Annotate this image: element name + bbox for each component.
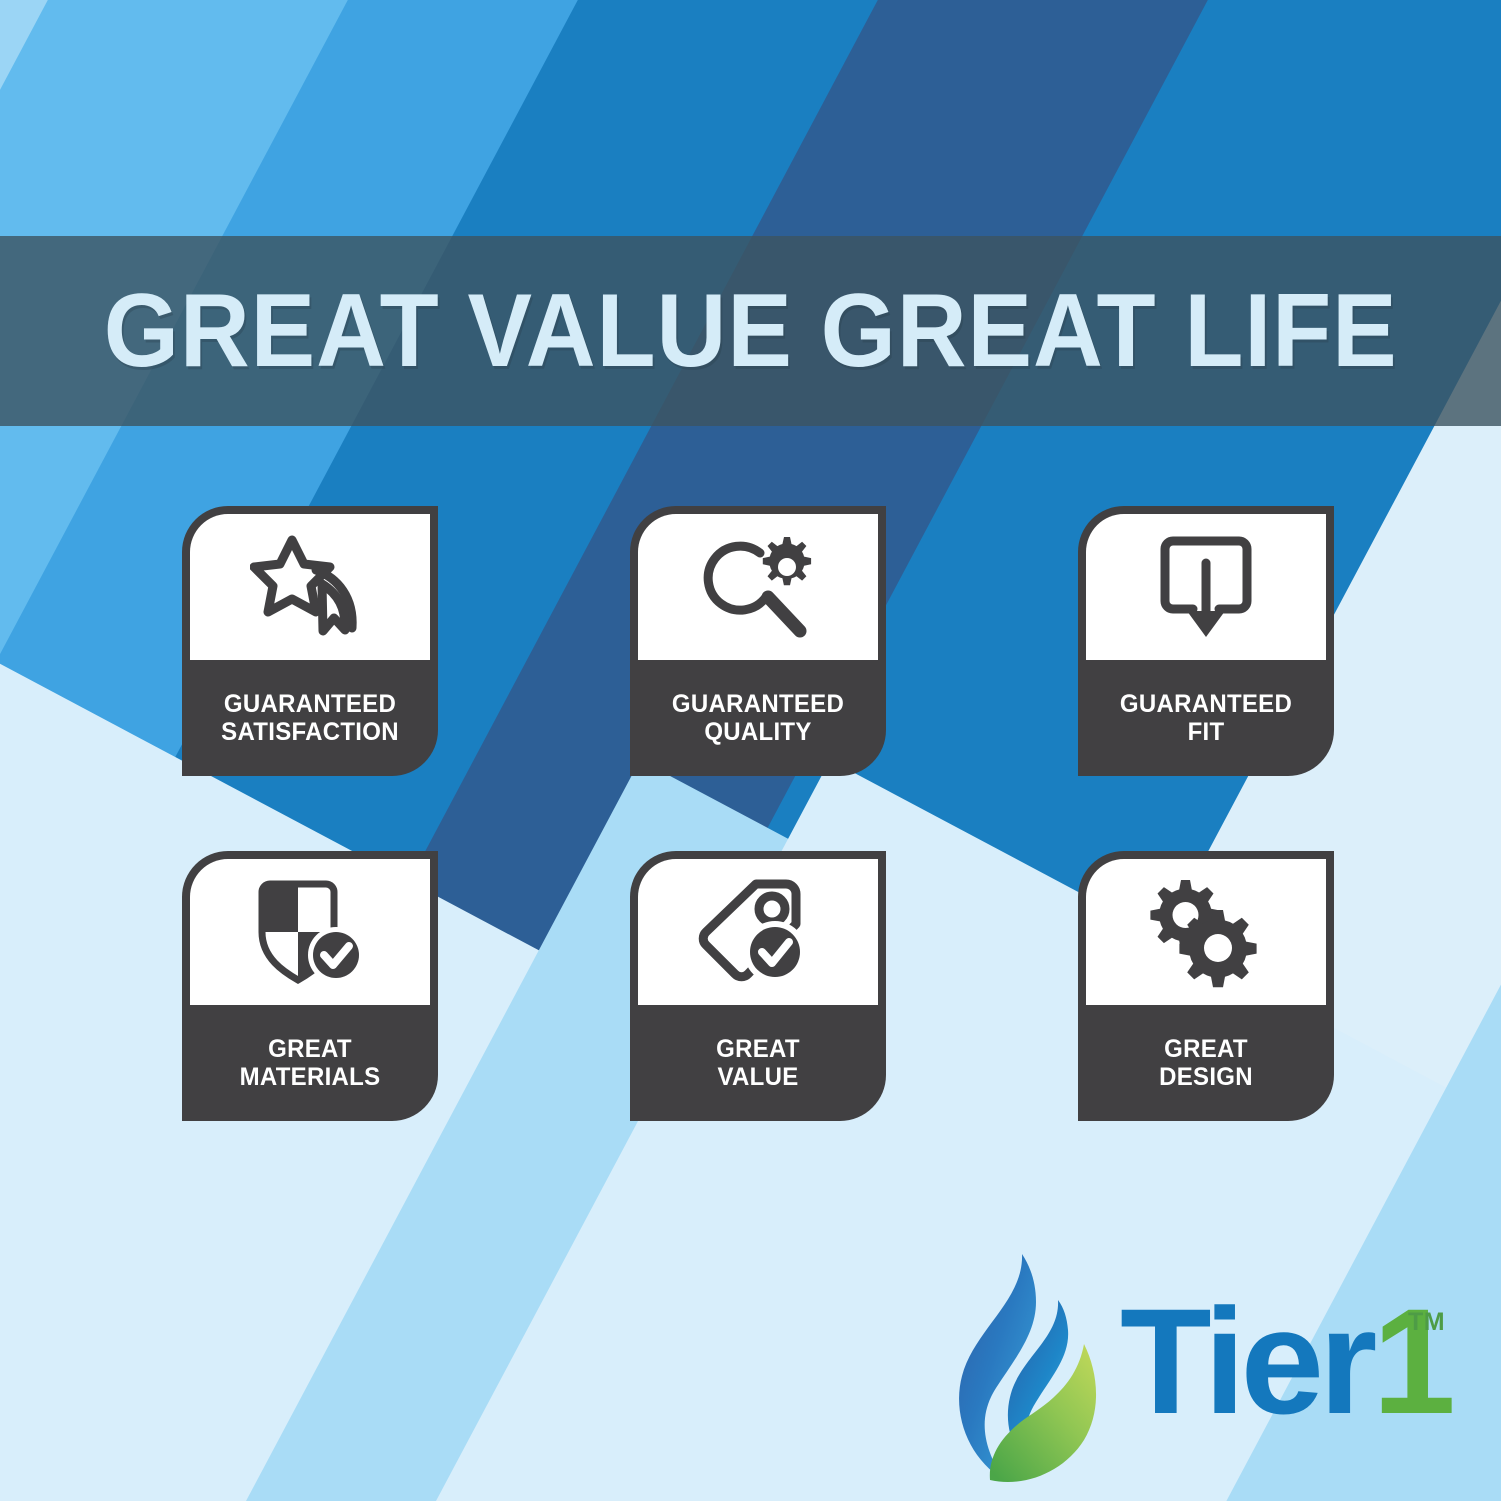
price-tag-check-icon [696,876,820,988]
card-label-line2: FIT [1083,718,1329,746]
shooting-star-icon [250,532,370,642]
icon-panel [638,859,878,1005]
card-label: GUARANTEED QUALITY [635,660,881,776]
card-label-line1: GUARANTEED [672,690,844,718]
arrow-into-box-icon [1151,531,1261,643]
two-gears-icon [1143,876,1269,988]
logo-wordmark: Tier1 [1120,1286,1451,1436]
icon-panel [190,859,430,1005]
headline-banner: GREAT VALUE GREAT LIFE [0,236,1501,426]
benefits-grid: GUARANTEED SATISFACTION [182,506,1337,1121]
card-label: GREAT VALUE [635,1005,881,1121]
shield-check-icon [250,876,370,988]
card-label-line1: GREAT [1164,1035,1248,1063]
page-title: GREAT VALUE GREAT LIFE [83,279,1418,383]
brand-logo: Tier1 TM [952,1248,1472,1493]
card-label-line2: VALUE [635,1063,881,1091]
benefit-card-guaranteed-quality[interactable]: GUARANTEED QUALITY [630,506,886,776]
icon-panel [638,514,878,660]
benefit-card-great-value[interactable]: GREAT VALUE [630,851,886,1121]
card-label-line2: SATISFACTION [187,718,433,746]
card-label-line1: GREAT [268,1035,352,1063]
logo-numeral-one: 1 [1372,1277,1450,1445]
benefit-card-great-design[interactable]: GREAT DESIGN [1078,851,1334,1121]
card-label-line2: DESIGN [1083,1063,1329,1091]
card-label-line2: QUALITY [635,718,881,746]
promo-graphic: GREAT VALUE GREAT LIFE GUARANTEED SATISF… [0,0,1501,1501]
trademark-symbol: TM [1408,1308,1445,1337]
benefit-card-guaranteed-satisfaction[interactable]: GUARANTEED SATISFACTION [182,506,438,776]
card-label-line1: GREAT [716,1035,800,1063]
benefit-card-guaranteed-fit[interactable]: GUARANTEED FIT [1078,506,1334,776]
icon-panel [1086,514,1326,660]
benefit-card-great-materials[interactable]: GREAT MATERIALS [182,851,438,1121]
water-drop-leaf-icon [952,1248,1122,1498]
card-label: GUARANTEED SATISFACTION [187,660,433,776]
card-label-line1: GUARANTEED [1120,690,1292,718]
card-label: GUARANTEED FIT [1083,660,1329,776]
logo-word-tier: Tier [1120,1277,1372,1445]
icon-panel [190,514,430,660]
card-label-line2: MATERIALS [187,1063,433,1091]
card-label: GREAT DESIGN [1083,1005,1329,1121]
card-label-line1: GUARANTEED [224,690,396,718]
icon-panel [1086,859,1326,1005]
card-label: GREAT MATERIALS [187,1005,433,1121]
magnifier-gear-icon [698,531,818,643]
